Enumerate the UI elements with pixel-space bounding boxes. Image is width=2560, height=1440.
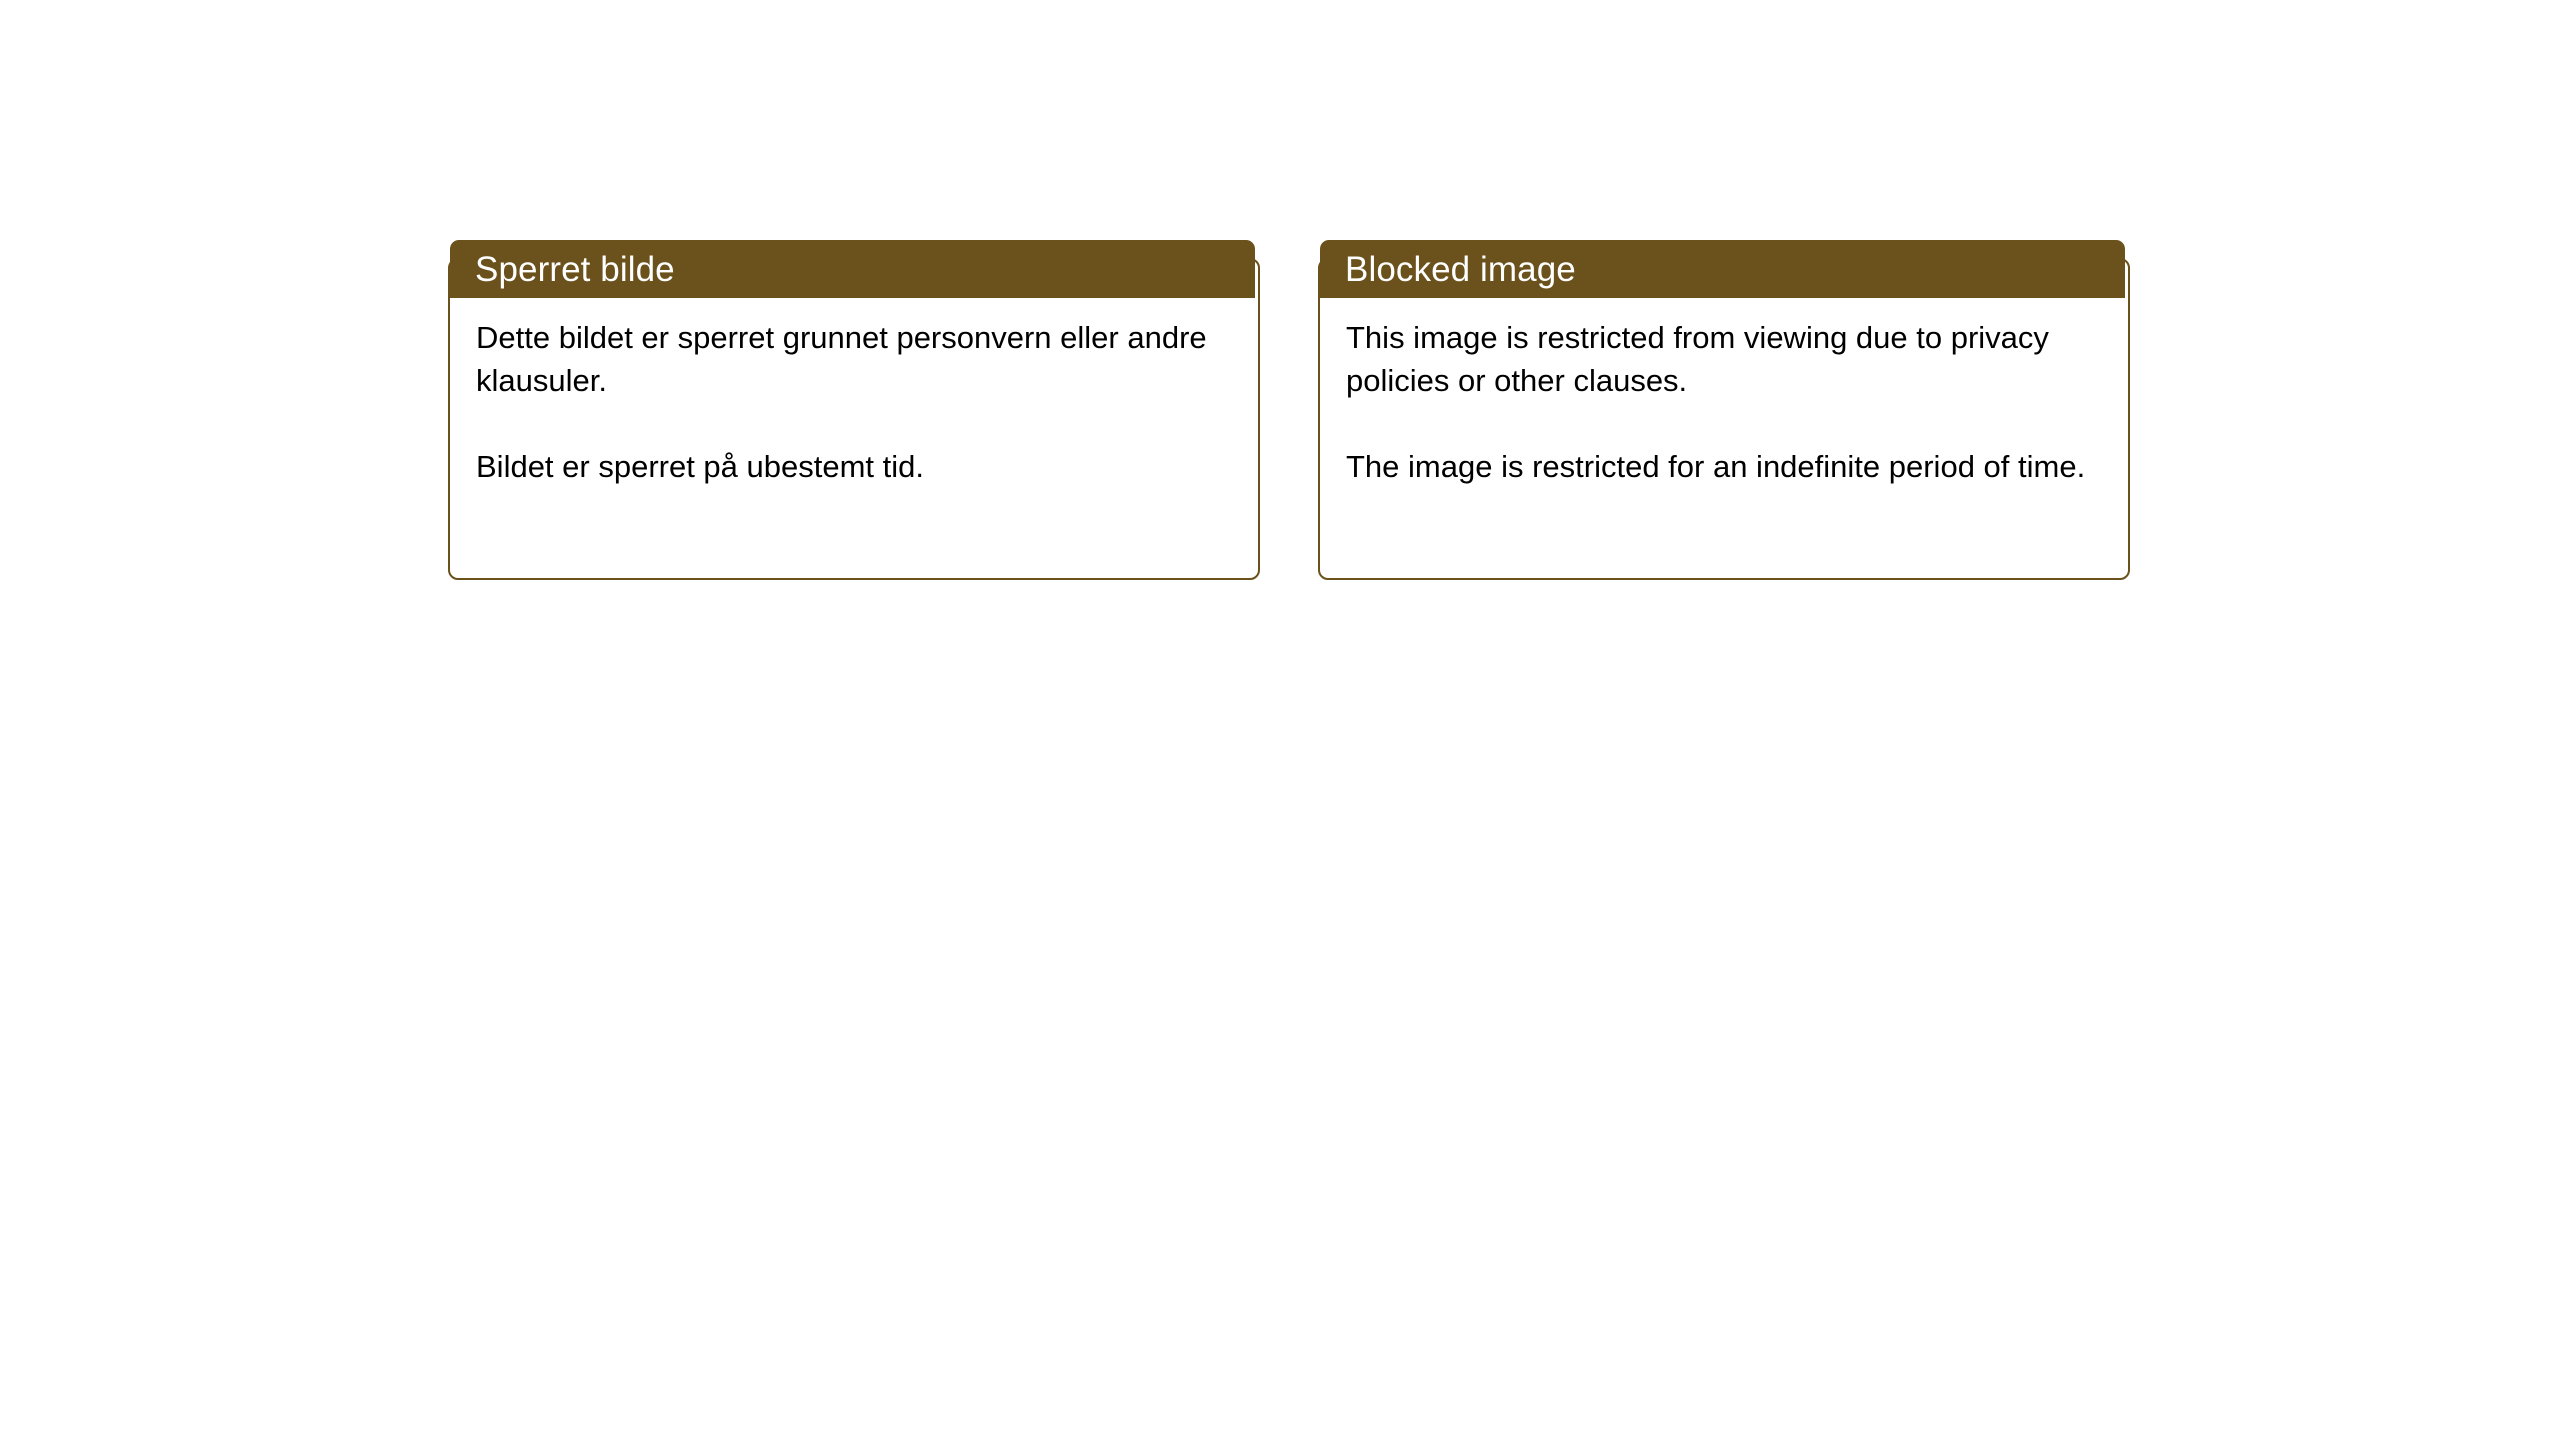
card-content: This image is restricted from viewing du… — [1320, 316, 2128, 578]
card-header-bar: Sperret bilde — [450, 240, 1255, 298]
card-paragraph-primary: Dette bildet er sperret grunnet personve… — [476, 316, 1232, 402]
card-content: Dette bildet er sperret grunnet personve… — [450, 316, 1258, 578]
blocked-image-card-english: Blocked image This image is restricted f… — [1318, 240, 2130, 580]
card-paragraph-secondary: The image is restricted for an indefinit… — [1346, 445, 2102, 488]
blocked-image-card-norwegian: Sperret bilde Dette bildet er sperret gr… — [448, 240, 1260, 580]
card-header-bar: Blocked image — [1320, 240, 2125, 298]
blocked-image-notice-area: Sperret bilde Dette bildet er sperret gr… — [0, 0, 2560, 1440]
card-title: Blocked image — [1320, 252, 1576, 287]
card-title: Sperret bilde — [450, 252, 675, 287]
card-paragraph-primary: This image is restricted from viewing du… — [1346, 316, 2102, 402]
card-paragraph-secondary: Bildet er sperret på ubestemt tid. — [476, 445, 1232, 488]
